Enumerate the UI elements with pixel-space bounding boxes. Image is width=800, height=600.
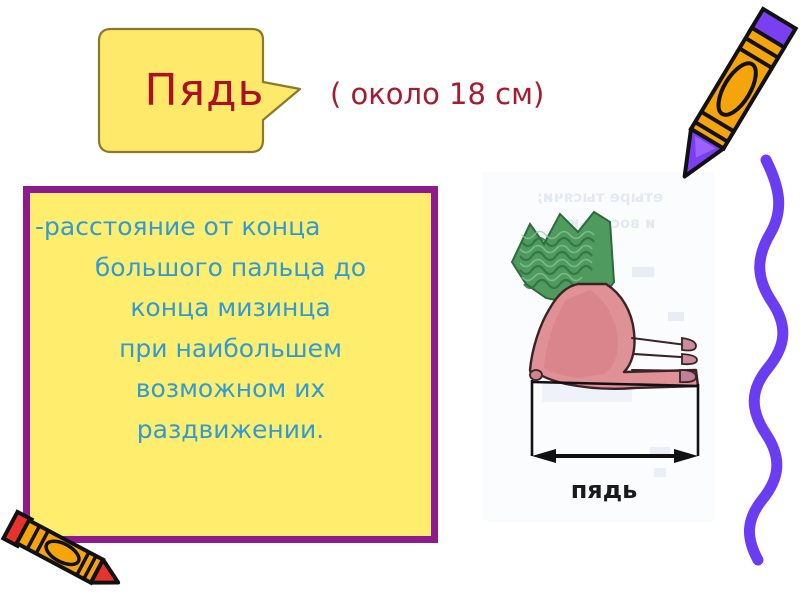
definition-line-2: большого пальца до [30,248,431,289]
thumb-nail [530,370,542,380]
ghost-blob-b [668,312,684,321]
crayon-bottom-left [0,508,128,600]
definition-line-6: раздвижении. [30,410,431,451]
definition-line-5: возможном их [30,369,431,410]
definition-line-1: -расстояние от конца [25,207,436,248]
ghost-blob-a [632,267,654,277]
crayon-barrel [691,28,784,149]
page-title: Пядь [97,27,302,154]
definition-line-4: при наибольшем [30,329,431,370]
subtitle-measure: ( около 18 см) [330,77,544,111]
ghost-text-line-1: етыре тысячи; [537,188,663,206]
wavy-line-path [749,160,782,560]
illustration-caption: пядь [571,476,638,504]
wavy-line-decoration [700,160,800,580]
definition-box: -расстояние от конца большого пальца до … [23,186,438,543]
crayon2-body-group [3,512,125,596]
ghost-blob-d [654,468,666,477]
wavy-line-svg [700,160,800,580]
slide-canvas: Пядь ( около 18 см) -расстояние от конца… [0,0,800,600]
illustration-svg: етыре тысячи; и восемью [482,172,714,522]
fingertips [680,338,697,382]
crayon2-barrel [17,520,103,582]
crayon-bottom-left-svg [0,508,128,600]
definition-line-3: конца мизинца [30,288,431,329]
hand-span-illustration: етыре тысячи; и восемью [482,172,714,522]
title-callout: Пядь [97,27,302,154]
